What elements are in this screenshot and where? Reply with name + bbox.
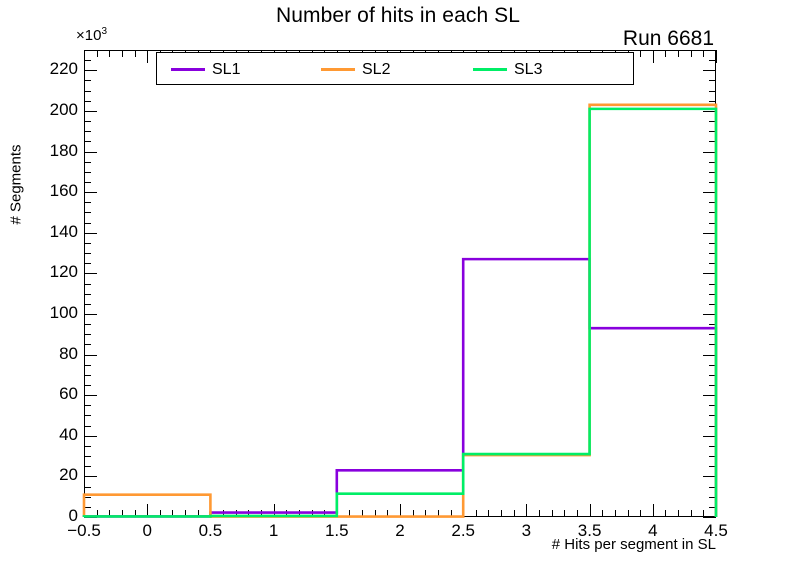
tick-mark	[709, 304, 716, 305]
tick-mark	[476, 510, 477, 517]
x-tick-label: 1.5	[307, 521, 367, 541]
tick-mark	[84, 436, 97, 437]
y-tick-label: 60	[18, 384, 78, 404]
tick-mark	[84, 273, 97, 274]
tick-mark	[709, 385, 716, 386]
tick-mark	[678, 510, 679, 517]
tick-mark	[709, 121, 716, 122]
tick-mark	[109, 50, 110, 57]
tick-mark	[709, 294, 716, 295]
tick-mark	[84, 192, 97, 193]
y-tick-label: 80	[18, 344, 78, 364]
plot-canvas: Number of hits in each SL Run 6681 ×103 …	[0, 0, 796, 572]
legend-label-sl1: SL1	[212, 61, 240, 79]
tick-mark	[324, 510, 325, 517]
tick-mark	[463, 504, 464, 517]
tick-mark	[703, 152, 716, 153]
tick-mark	[135, 510, 136, 517]
tick-mark	[84, 172, 91, 173]
tick-mark	[84, 375, 91, 376]
tick-mark	[84, 504, 85, 517]
tick-mark	[84, 60, 91, 61]
x-tick-label: 3.5	[560, 521, 620, 541]
x-tick-label: 1	[244, 521, 304, 541]
tick-mark	[425, 510, 426, 517]
tick-mark	[185, 510, 186, 517]
tick-mark	[84, 415, 91, 416]
tick-mark	[84, 466, 91, 467]
tick-mark	[84, 152, 97, 153]
tick-mark	[501, 510, 502, 517]
legend-label-sl2: SL2	[362, 61, 390, 79]
tick-mark	[84, 202, 91, 203]
tick-mark	[84, 121, 91, 122]
tick-mark	[653, 504, 654, 517]
tick-mark	[349, 510, 350, 517]
tick-mark	[248, 510, 249, 517]
tick-mark	[84, 141, 91, 142]
tick-mark	[413, 510, 414, 517]
tick-mark	[84, 263, 91, 264]
x-tick-label: 3	[496, 521, 556, 541]
tick-mark	[703, 510, 704, 517]
tick-mark	[400, 504, 401, 517]
tick-mark	[691, 50, 692, 57]
tick-mark	[488, 510, 489, 517]
x-tick-label: 2.5	[433, 521, 493, 541]
tick-mark	[709, 446, 716, 447]
tick-mark	[653, 50, 654, 63]
tick-mark	[590, 504, 591, 517]
tick-mark	[84, 111, 97, 112]
tick-mark	[709, 263, 716, 264]
tick-mark	[312, 510, 313, 517]
tick-mark	[286, 510, 287, 517]
tick-mark	[703, 517, 716, 518]
tick-mark	[122, 510, 123, 517]
tick-mark	[709, 212, 716, 213]
tick-mark	[703, 233, 716, 234]
tick-mark	[709, 507, 716, 508]
tick-mark	[84, 395, 97, 396]
tick-mark	[337, 504, 338, 517]
tick-mark	[84, 456, 91, 457]
y-tick-label: 20	[18, 465, 78, 485]
tick-mark	[84, 507, 91, 508]
tick-mark	[97, 50, 98, 57]
tick-mark	[709, 131, 716, 132]
tick-mark	[135, 50, 136, 57]
tick-mark	[716, 50, 717, 63]
legend-item-sl3[interactable]: SL3	[473, 53, 542, 86]
tick-mark	[709, 182, 716, 183]
tick-mark	[703, 192, 716, 193]
y-tick-label: 120	[18, 262, 78, 282]
tick-mark	[84, 385, 91, 386]
x-tick-label: 4	[623, 521, 683, 541]
tick-mark	[97, 510, 98, 517]
y-tick-label: 160	[18, 181, 78, 201]
x-tick-label: 0.5	[180, 521, 240, 541]
tick-mark	[236, 510, 237, 517]
tick-mark	[514, 510, 515, 517]
legend-swatch-sl2	[321, 68, 355, 71]
tick-mark	[709, 141, 716, 142]
tick-mark	[84, 446, 91, 447]
y-axis-title: # Segments	[2, 0, 26, 572]
tick-mark	[539, 510, 540, 517]
plot-frame	[84, 50, 716, 517]
tick-mark	[703, 50, 704, 57]
tick-mark	[451, 510, 452, 517]
legend-label-sl3: SL3	[514, 61, 542, 79]
tick-mark	[84, 233, 97, 234]
x-tick-label: 2	[370, 521, 430, 541]
tick-mark	[709, 162, 716, 163]
tick-mark	[709, 365, 716, 366]
tick-mark	[678, 50, 679, 57]
y-tick-label: 40	[18, 425, 78, 445]
tick-mark	[109, 510, 110, 517]
tick-mark	[709, 101, 716, 102]
legend-item-sl1[interactable]: SL1	[171, 53, 240, 86]
tick-mark	[716, 504, 717, 517]
tick-mark	[703, 436, 716, 437]
tick-mark	[84, 50, 91, 51]
tick-mark	[84, 162, 91, 163]
tick-mark	[709, 243, 716, 244]
tick-mark	[703, 273, 716, 274]
y-tick-label: 180	[18, 141, 78, 161]
tick-mark	[84, 355, 97, 356]
tick-mark	[628, 510, 629, 517]
tick-mark	[84, 497, 91, 498]
tick-mark	[84, 182, 91, 183]
tick-mark	[709, 253, 716, 254]
tick-mark	[703, 355, 716, 356]
tick-mark	[84, 101, 91, 102]
tick-mark	[709, 426, 716, 427]
tick-mark	[84, 344, 91, 345]
legend-swatch-sl1	[171, 68, 205, 71]
tick-mark	[709, 50, 716, 51]
tick-mark	[84, 517, 97, 518]
tick-mark	[84, 284, 91, 285]
run-label: Run 6681	[623, 27, 714, 51]
tick-mark	[615, 510, 616, 517]
tick-mark	[709, 497, 716, 498]
y-tick-label: 100	[18, 303, 78, 323]
tick-mark	[709, 334, 716, 335]
tick-mark	[709, 466, 716, 467]
y-tick-label: 140	[18, 222, 78, 242]
tick-mark	[299, 510, 300, 517]
tick-mark	[84, 91, 91, 92]
tick-mark	[526, 504, 527, 517]
tick-mark	[147, 50, 148, 63]
tick-mark	[709, 415, 716, 416]
tick-mark	[84, 212, 91, 213]
tick-mark	[84, 314, 97, 315]
x-tick-label: 0	[117, 521, 177, 541]
tick-mark	[665, 510, 666, 517]
page-title: Number of hits in each SL	[0, 4, 796, 28]
tick-mark	[375, 510, 376, 517]
tick-mark	[577, 510, 578, 517]
tick-mark	[709, 172, 716, 173]
tick-mark	[223, 510, 224, 517]
tick-mark	[640, 50, 641, 57]
tick-mark	[261, 510, 262, 517]
tick-mark	[709, 405, 716, 406]
legend[interactable]: SL1 SL2 SL3	[156, 52, 634, 85]
tick-mark	[84, 80, 91, 81]
tick-mark	[665, 50, 666, 57]
tick-mark	[84, 476, 97, 477]
tick-mark	[84, 294, 91, 295]
legend-swatch-sl3	[473, 68, 507, 71]
tick-mark	[198, 510, 199, 517]
tick-mark	[84, 334, 91, 335]
tick-mark	[709, 324, 716, 325]
tick-mark	[709, 284, 716, 285]
tick-mark	[703, 476, 716, 477]
tick-mark	[84, 223, 91, 224]
tick-mark	[709, 487, 716, 488]
tick-mark	[84, 365, 91, 366]
tick-mark	[274, 504, 275, 517]
legend-item-sl2[interactable]: SL2	[321, 53, 390, 86]
tick-mark	[84, 324, 91, 325]
tick-mark	[160, 510, 161, 517]
x-tick-label: 4.5	[686, 521, 746, 541]
tick-mark	[602, 510, 603, 517]
tick-mark	[84, 487, 91, 488]
tick-mark	[84, 243, 91, 244]
tick-mark	[84, 70, 97, 71]
y-tick-label: 200	[18, 100, 78, 120]
tick-mark	[640, 510, 641, 517]
tick-mark	[172, 510, 173, 517]
tick-mark	[552, 510, 553, 517]
tick-mark	[84, 50, 85, 63]
tick-mark	[709, 60, 716, 61]
tick-mark	[84, 131, 91, 132]
tick-mark	[147, 504, 148, 517]
tick-mark	[703, 70, 716, 71]
tick-mark	[703, 395, 716, 396]
tick-mark	[438, 510, 439, 517]
tick-mark	[703, 314, 716, 315]
tick-mark	[362, 510, 363, 517]
tick-mark	[709, 80, 716, 81]
tick-mark	[564, 510, 565, 517]
tick-mark	[709, 375, 716, 376]
tick-mark	[84, 253, 91, 254]
tick-mark	[84, 426, 91, 427]
y-axis-exponent: ×103	[76, 26, 107, 44]
tick-mark	[709, 91, 716, 92]
tick-mark	[387, 510, 388, 517]
tick-mark	[709, 344, 716, 345]
tick-mark	[84, 304, 91, 305]
tick-mark	[709, 456, 716, 457]
tick-mark	[709, 223, 716, 224]
tick-mark	[84, 405, 91, 406]
tick-mark	[709, 202, 716, 203]
tick-mark	[210, 504, 211, 517]
tick-mark	[691, 510, 692, 517]
tick-mark	[122, 50, 123, 57]
x-tick-label: −0.5	[54, 521, 114, 541]
tick-mark	[703, 111, 716, 112]
y-tick-label: 220	[18, 59, 78, 79]
